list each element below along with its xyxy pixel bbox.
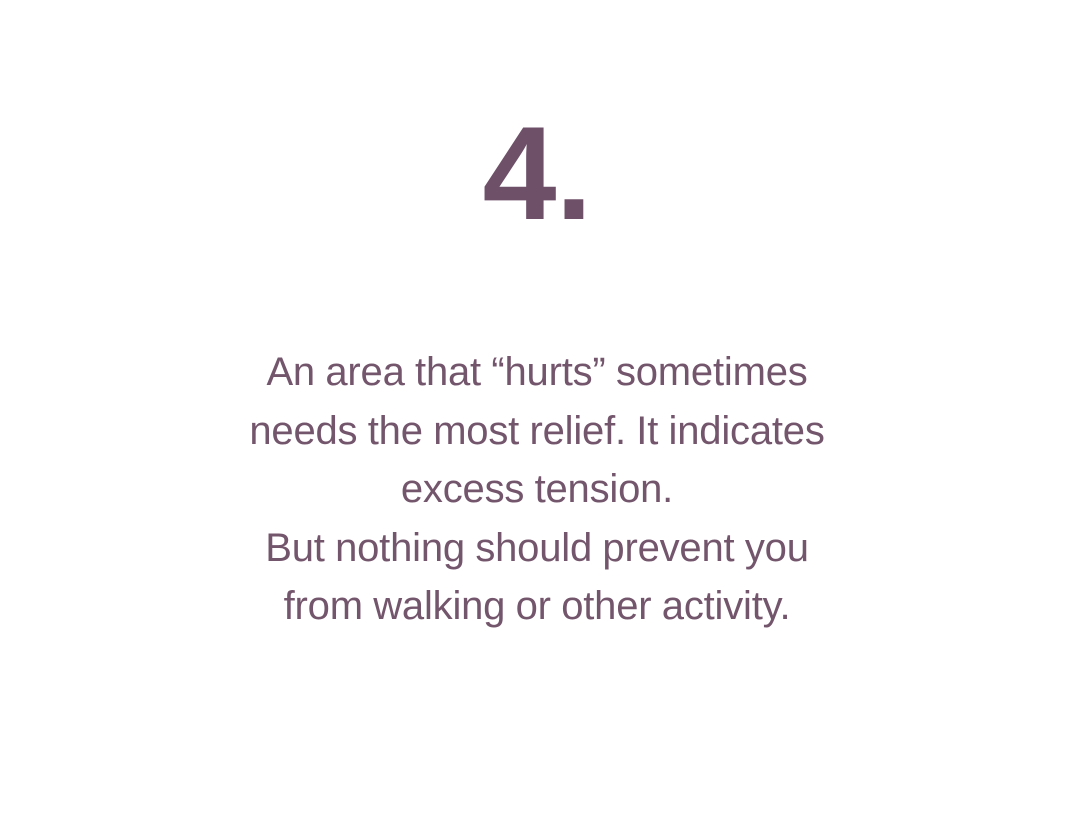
body-line: excess tension. bbox=[217, 460, 857, 519]
body-line: needs the most relief. It indicates bbox=[217, 402, 857, 461]
slide-canvas: 4. An area that “hurts” sometimes needs … bbox=[0, 0, 1074, 826]
step-number-container: 4. bbox=[0, 108, 1074, 241]
body-text-container: An area that “hurts” sometimes needs the… bbox=[0, 343, 1074, 636]
body-paragraph: An area that “hurts” sometimes needs the… bbox=[217, 343, 857, 636]
body-line: from walking or other activity. bbox=[217, 577, 857, 636]
step-number: 4. bbox=[483, 108, 592, 241]
body-line: An area that “hurts” sometimes bbox=[217, 343, 857, 402]
body-line: But nothing should prevent you bbox=[217, 519, 857, 578]
